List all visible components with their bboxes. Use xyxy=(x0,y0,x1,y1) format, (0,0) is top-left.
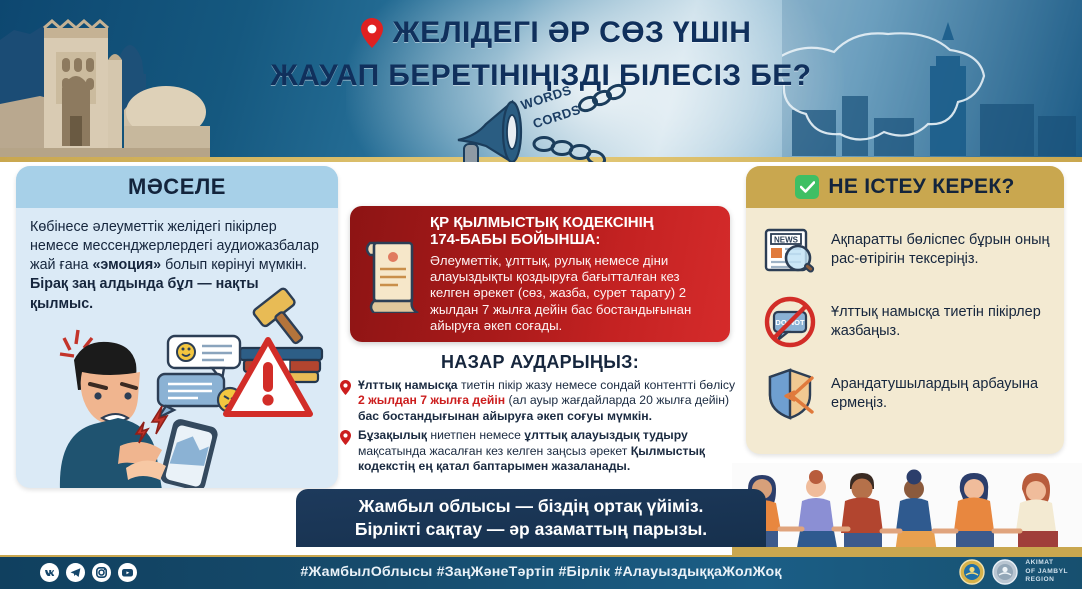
kazakhstan-emblem-icon xyxy=(959,559,985,585)
problem-text-part2: болып көрінуі мүмкін. xyxy=(161,257,307,273)
criminal-code-box: ҚР ҚЫЛМЫСТЫҚ КОДЕКСІНІҢ 174-БАБЫ БОЙЫНША… xyxy=(350,206,730,342)
what-to-do-list: NEWS Ақпаратты бөліспес бұрын оның рас-ө… xyxy=(746,208,1064,422)
do-not-post-icon: DO NOT xyxy=(762,294,818,350)
header-banner: ЖЕЛІДЕГІ ӘР СӨЗ ҮШІН ЖАУАП БЕРЕТІНІҢІЗДІ… xyxy=(0,0,1082,162)
problem-heading: МӘСЕЛЕ xyxy=(128,174,226,200)
kazakhstan-emblem-icon xyxy=(992,559,1018,585)
telegram-icon[interactable] xyxy=(66,563,85,582)
code-title-line-2: 174-БАБЫ БОЙЫНША: xyxy=(430,231,600,248)
notice2-seg3: ұлттық алауыздық тудыру xyxy=(524,428,687,442)
notice-item: Ұлттық намысқа тиетін пікір жазу немесе … xyxy=(340,378,740,424)
megaphone-chain-collage: WORDS CORDS xyxy=(440,82,665,162)
instagram-icon[interactable] xyxy=(92,563,111,582)
problem-panel: МӘСЕЛЕ Көбінесе әлеуметтік желідегі пікі… xyxy=(16,166,338,488)
scroll-document-icon xyxy=(360,235,422,313)
list-item-label: Ақпаратты бөліспес бұрын оның рас-өтіріг… xyxy=(831,231,1050,268)
list-item-label: Арандатушылардың арбауына ермеңіз. xyxy=(831,375,1050,412)
banner-line-1: Жамбыл облысы — біздің ортақ үйіміз. xyxy=(359,495,704,518)
problem-text-conclusion: Бірақ заң алдында бұл — нақты қылмыс. xyxy=(30,276,259,311)
map-pin-icon xyxy=(340,380,352,424)
youtube-icon[interactable] xyxy=(118,563,137,582)
code-title-line-1: ҚР ҚЫЛМЫСТЫҚ КОДЕКСІНІҢ xyxy=(430,214,654,231)
akimat-logo-block: AKIMAT OF JAMBYL REGION xyxy=(959,559,1068,586)
code-box-body: Әлеуметтік, ұлттық, рулық немесе діни ал… xyxy=(430,253,718,334)
people-holding-hands-illustration xyxy=(732,463,1082,555)
title-line-1-row: ЖЕЛІДЕГІ ӘР СӨЗ ҮШІН xyxy=(181,14,901,57)
vk-icon[interactable] xyxy=(40,563,59,582)
notice-heading: НАЗАР АУДАРЫҢЫЗ: xyxy=(340,352,740,373)
problem-panel-body: Көбінесе әлеуметтік желідегі пікірлер не… xyxy=(16,208,338,488)
notice2-seg1: Бұзақылық xyxy=(358,428,427,442)
problem-text-emotion: «эмоция» xyxy=(92,257,161,273)
notice-section: НАЗАР АУДАРЫҢЫЗ: Ұлттық намысқа тиетін п… xyxy=(340,352,740,478)
notice2-seg4: мақсатында жасалған кез келген заңсыз әр… xyxy=(358,444,631,458)
code-box-title: ҚР ҚЫЛМЫСТЫҚ КОДЕКСІНІҢ 174-БАБЫ БОЙЫНША… xyxy=(430,214,718,249)
map-pin-icon xyxy=(361,18,383,57)
angry-man-phone-illustration xyxy=(16,318,338,488)
what-to-do-panel: НЕ ІСТЕУ КЕРЕК? NEWS Ақпаратты бөліспес … xyxy=(746,166,1064,454)
social-links[interactable] xyxy=(40,563,137,582)
map-pin-icon xyxy=(340,430,352,474)
list-item: Арандатушылардың арбауына ермеңіз. xyxy=(762,366,1050,422)
notice1-seg4: (ал ауыр жағдайларда 20 жылға дейін) xyxy=(505,393,729,407)
shield-protection-icon xyxy=(762,366,818,422)
notice1-seg1: Ұлттық намысқа xyxy=(358,378,458,392)
problem-panel-header: МӘСЕЛЕ xyxy=(16,166,338,208)
akimat-line-2: OF JAMBYL xyxy=(1025,568,1068,577)
akimat-caption: AKIMAT OF JAMBYL REGION xyxy=(1025,559,1068,586)
check-badge-icon xyxy=(795,175,819,199)
mausoleum-illustration xyxy=(0,0,210,162)
infographic-poster: ЖЕЛІДЕГІ ӘР СӨЗ ҮШІН ЖАУАП БЕРЕТІНІҢІЗДІ… xyxy=(0,0,1082,589)
notice-item-text: Ұлттық намысқа тиетін пікір жазу немесе … xyxy=(358,378,740,424)
person xyxy=(954,473,994,553)
akimat-line-3: REGION xyxy=(1025,576,1068,585)
footer-gold-divider xyxy=(0,555,1082,557)
list-item-label: Ұлттық намысқа тиетін пікірлер жазбаңыз. xyxy=(831,303,1050,340)
unity-banner: Жамбыл облысы — біздің ортақ үйіміз. Бір… xyxy=(296,489,766,547)
notice-item: Бұзақылық ниетпен немесе ұлттық алауызды… xyxy=(340,428,740,474)
title-line-1: ЖЕЛІДЕГІ ӘР СӨЗ ҮШІН xyxy=(393,16,752,49)
notice1-seg2: тиетін пікір жазу немесе сондай контентт… xyxy=(458,378,736,392)
list-item: NEWS Ақпаратты бөліспес бұрын оның рас-ө… xyxy=(762,222,1050,278)
svg-text:NEWS: NEWS xyxy=(774,236,799,245)
news-magnifier-icon: NEWS xyxy=(762,222,818,278)
notice-item-text: Бұзақылық ниетпен немесе ұлттық алауызды… xyxy=(358,428,740,474)
what-to-do-header: НЕ ІСТЕУ КЕРЕК? xyxy=(746,166,1064,208)
list-item: DO NOT Ұлттық намысқа тиетін пікірлер жа… xyxy=(762,294,1050,350)
banner-line-2: Бірлікті сақтау — әр азаматтың парызы. xyxy=(355,518,707,541)
notice2-seg2: ниетпен немесе xyxy=(427,428,524,442)
hashtags: #ЖамбылОблысы #ЗаңЖәнеТәртіп #Бірлік #Ал… xyxy=(300,564,781,580)
notice1-seg5: бас бостандығынан айыруға әкеп соғуы мүм… xyxy=(358,409,652,423)
what-to-do-heading: НЕ ІСТЕУ КЕРЕК? xyxy=(828,175,1014,199)
footer-bar: #ЖамбылОблысы #ЗаңЖәнеТәртіп #Бірлік #Ал… xyxy=(0,555,1082,589)
notice1-seg3: 2 жылдан 7 жылға дейін xyxy=(358,393,505,407)
akimat-line-1: AKIMAT xyxy=(1025,559,1068,568)
code-box-texts: ҚР ҚЫЛМЫСТЫҚ КОДЕКСІНІҢ 174-БАБЫ БОЙЫНША… xyxy=(430,214,718,334)
